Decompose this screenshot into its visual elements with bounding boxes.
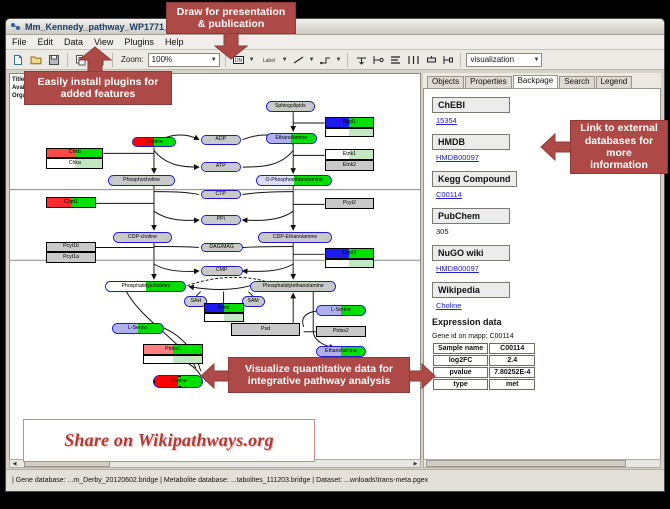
node-label: PPi [217, 217, 225, 222]
tab-objects[interactable]: Objects [427, 76, 464, 88]
chevron-down-icon[interactable]: ▼ [336, 57, 342, 63]
metabolite-node-choline-top[interactable]: Choline [132, 137, 176, 148]
sample-name-value: C00114 [489, 343, 535, 354]
metabolite-node-phosphocholine[interactable]: Phosphocholine [108, 175, 175, 186]
pubchem-value: 305 [436, 227, 652, 236]
node-label: Pcyt1b [63, 244, 79, 249]
selection-handle[interactable] [177, 386, 181, 388]
node-label: L-Serine [128, 326, 148, 331]
metabolite-node-cdp-choline[interactable]: CDP-choline [113, 232, 172, 243]
node-label: Pcyt2 [343, 201, 356, 206]
node-label: Chkb [69, 150, 81, 155]
gene-node-cept1b[interactable] [325, 259, 375, 268]
gene-node-pcyt1a[interactable]: Pcyt1a [46, 252, 96, 263]
chevron-down-icon[interactable]: ▼ [309, 57, 315, 63]
node-label: Ethanolamine [325, 349, 357, 354]
node-label: Cept1 [343, 251, 357, 256]
node-label: Sphingolipids [275, 104, 306, 109]
pubchem-header: PubChem [432, 208, 510, 224]
zoom-value: 100% [152, 55, 172, 64]
gene-node-etnk2[interactable]: Etnk2 [325, 160, 375, 171]
kegg-compound-header: Kegg Compound [432, 171, 517, 187]
stack-vertical-icon[interactable] [387, 52, 403, 68]
title-bar: Mm_Kennedy_pathway_WP1771_45176.gpml [6, 19, 664, 35]
pathway-canvas[interactable]: Title: Availa Organi [9, 73, 421, 467]
callout-draw-for-publication: Draw for presentation & publication [166, 2, 296, 34]
zoom-label: Zoom: [121, 55, 144, 64]
open-file-icon[interactable] [28, 52, 44, 68]
node-label: CDP-choline [128, 235, 157, 240]
kegg-compound-link[interactable]: C00114 [436, 190, 652, 199]
gene-node-psd[interactable]: Psd [231, 323, 300, 336]
node-label: Choline [169, 379, 187, 384]
metabolite-node-l-serine-left[interactable]: L-Serine [112, 323, 163, 334]
visualization-value: visualization [470, 55, 514, 64]
nugo-wiki-header: NuGO wiki [432, 245, 510, 261]
gene-node-ptdss1b[interactable] [143, 355, 202, 364]
type-label: type [433, 379, 488, 390]
gene-node-pcyt2[interactable]: Pcyt2 [325, 198, 375, 209]
log2fc-label: log2FC [433, 355, 488, 366]
metabolite-node-ethanolamine-top[interactable]: Ethanolamine [266, 133, 317, 144]
tab-backpage[interactable]: Backpage [513, 75, 559, 88]
svg-text:Label: Label [263, 58, 275, 64]
node-label: Ptdss1 [165, 347, 181, 352]
interaction-tool-icon[interactable] [318, 52, 334, 68]
gene-node-pemt[interactable]: Pemt [204, 303, 244, 313]
metabolite-node-sphingolipids[interactable]: Sphingolipids [266, 101, 316, 112]
distribute-horizontal-icon[interactable] [405, 52, 421, 68]
new-file-icon[interactable] [10, 52, 26, 68]
gene-node-ptdss2[interactable]: Ptdss2 [316, 326, 366, 337]
gene-node-sgpl1[interactable]: Sgpl1 [325, 117, 375, 128]
chevron-down-icon: ▼ [534, 57, 540, 63]
metabolite-node-ethanolamine-bottom[interactable]: Ethanolamine [316, 346, 366, 357]
scrollbar-thumb[interactable] [426, 460, 626, 467]
node-color-fill [205, 314, 243, 321]
callout-visualize-data: Visualize quantitative data for integrat… [228, 357, 410, 393]
menu-file[interactable]: File [11, 37, 28, 47]
node-label: L-Serine [331, 308, 351, 313]
node-label: SAH [191, 299, 202, 304]
scroll-left-icon[interactable]: ◀ [10, 460, 19, 467]
gene-node-pcyt1b[interactable]: Pcyt1b [46, 242, 96, 253]
metabolite-node-phosphatidylethanolamine[interactable]: Phosphatidylethanolamine [250, 281, 336, 292]
gene-node-ptdss1[interactable]: Ptdss1 [143, 344, 202, 355]
node-color-fill [326, 260, 374, 267]
metabolite-node-adp[interactable]: ADP [201, 135, 241, 145]
selection-handle[interactable] [177, 375, 181, 377]
label-tool-icon[interactable]: Label [258, 52, 280, 68]
node-label: ADP [215, 137, 226, 142]
gene-node-etnk1[interactable]: Etnk1 [325, 149, 375, 160]
node-label: Etnk2 [343, 163, 356, 168]
callout-draw-arrow-icon [214, 32, 248, 60]
menu-plugins[interactable]: Plugins [123, 37, 155, 47]
node-label: Pemt [218, 306, 230, 311]
node-label: Sgpl1 [343, 120, 356, 125]
node-label: CMP [216, 268, 228, 273]
metabolite-node-atp[interactable]: ATP [201, 162, 241, 172]
selection-handle[interactable] [153, 375, 155, 377]
metabolite-node-cdp-ethanolamine[interactable]: CDP-Ethanolamine [258, 232, 332, 243]
toolbar-separator [67, 53, 68, 67]
node-label: SAM [248, 299, 259, 304]
expression-table: Sample name C00114 log2FC 2.4 pvalue 7.8… [432, 342, 536, 391]
gene-id-caption: Gene id on mapp: C00114 [432, 333, 652, 340]
callout-links-arrow-icon [540, 132, 574, 162]
work-area: Title: Availa Organi [6, 71, 664, 469]
callout-plugins-arrow-icon [78, 46, 112, 74]
metabolite-node-dag-mag[interactable]: DAG/MAG [201, 243, 243, 253]
pvalue-label: pvalue [433, 367, 488, 378]
node-color-fill [326, 129, 374, 136]
type-value: met [489, 379, 535, 390]
align-top-icon[interactable] [353, 52, 369, 68]
metabolite-node-o-phosphoethanolamine[interactable]: O-Phosphoethanolamine [256, 175, 332, 186]
status-bar: | Gene database: ...m_Derby_20120602.bri… [6, 469, 664, 491]
sample-name-label: Sample name [433, 343, 488, 354]
gene-node-chkb[interactable]: Chkb [46, 148, 103, 159]
share-wikipathways-banner: Share on Wikipathways.org [23, 419, 315, 462]
table-row: pvalue 7.80252E-4 [433, 367, 535, 378]
gene-node-sgpl1b[interactable] [325, 128, 375, 137]
tab-search[interactable]: Search [559, 76, 594, 88]
wikipedia-header: Wikipedia [432, 282, 510, 298]
callout-install-plugins: Easily install plugins for added feature… [24, 71, 172, 105]
table-row: Sample name C00114 [433, 343, 535, 354]
node-label: DAG/MAG [209, 245, 234, 250]
metabolite-node-cmp[interactable]: CMP [201, 266, 243, 276]
metabolite-node-ppi[interactable]: PPi [201, 215, 241, 225]
metabolite-node-choline-selected[interactable]: Choline [153, 375, 203, 388]
log2fc-value: 2.4 [489, 355, 535, 366]
node-label: Psd [261, 327, 270, 332]
tab-properties[interactable]: Properties [465, 76, 511, 88]
hmdb-header: HMDB [432, 134, 510, 150]
callout-external-links: Link to external databases for more info… [570, 120, 668, 174]
node-color-fill [144, 356, 201, 363]
node-label: Phosphatidylcholines [121, 284, 170, 289]
status-text: | Gene database: ...m_Derby_20120602.bri… [6, 477, 428, 484]
chevron-down-icon[interactable]: ▼ [249, 57, 255, 63]
node-label: O-Phosphoethanolamine [265, 178, 322, 183]
pvalue-value: 7.80252E-4 [489, 367, 535, 378]
toolbar-separator [460, 53, 461, 67]
align-left-icon[interactable] [371, 52, 385, 68]
node-label: Chpt1 [64, 200, 78, 205]
expression-data-title: Expression data [432, 317, 652, 327]
toolbar-separator [112, 53, 113, 67]
node-label: ATP [216, 164, 226, 169]
toolbar-separator [347, 53, 348, 67]
node-label: Ethanolamine [275, 136, 307, 141]
bring-front-icon[interactable] [441, 52, 455, 68]
wikipedia-link[interactable]: Choline [436, 301, 652, 310]
node-label: Choline [145, 140, 163, 145]
gene-node-cept1[interactable]: Cept1 [325, 248, 375, 259]
sidepanel-hscrollbar[interactable] [423, 459, 661, 468]
metabolite-node-phosphatidylcholines[interactable]: Phosphatidylcholines [105, 281, 186, 292]
group-icon[interactable] [423, 52, 439, 68]
scroll-right-icon[interactable]: ▶ [411, 460, 420, 467]
gene-node-chpt1[interactable]: Chpt1 [46, 197, 96, 208]
node-label: CTP [216, 192, 226, 197]
zoom-combo[interactable]: 100% ▼ [148, 53, 220, 67]
metabolite-node-ctp[interactable]: CTP [201, 190, 241, 200]
table-row: type met [433, 379, 535, 390]
nugo-wiki-link[interactable]: HMDB00097 [436, 264, 652, 273]
menu-edit[interactable]: Edit [37, 37, 55, 47]
metabolite-node-sam[interactable]: SAM [242, 296, 265, 307]
menu-help[interactable]: Help [164, 37, 185, 47]
node-label: Pcyt1a [63, 255, 79, 260]
node-label: Chka [69, 161, 81, 166]
node-label: Phosphocholine [123, 178, 160, 183]
metabolite-node-l-serine-right[interactable]: L-Serine [316, 305, 366, 316]
gene-node-pemtb[interactable] [204, 313, 244, 322]
chevron-down-icon[interactable]: ▼ [282, 57, 288, 63]
node-label: Ptdss2 [333, 329, 349, 334]
pathvisio-app-icon [10, 21, 21, 32]
save-file-icon[interactable] [46, 52, 62, 68]
gene-node-chka[interactable]: Chka [46, 158, 103, 169]
tab-legend[interactable]: Legend [596, 76, 633, 88]
node-label: Phosphatidylethanolamine [263, 284, 324, 289]
line-tool-icon[interactable] [291, 52, 307, 68]
side-panel-tabs: Objects Properties Backpage Search Legen… [423, 73, 661, 88]
node-label: CDP-Ethanolamine [273, 235, 317, 240]
visualization-combo[interactable]: visualization ▼ [466, 53, 542, 67]
table-row: log2FC 2.4 [433, 355, 535, 366]
chebi-header: ChEBI [432, 97, 510, 113]
selection-handle[interactable] [153, 380, 155, 384]
share-wikipathways-text: Share on Wikipathways.org [64, 430, 274, 451]
node-label: Etnk1 [343, 152, 356, 157]
